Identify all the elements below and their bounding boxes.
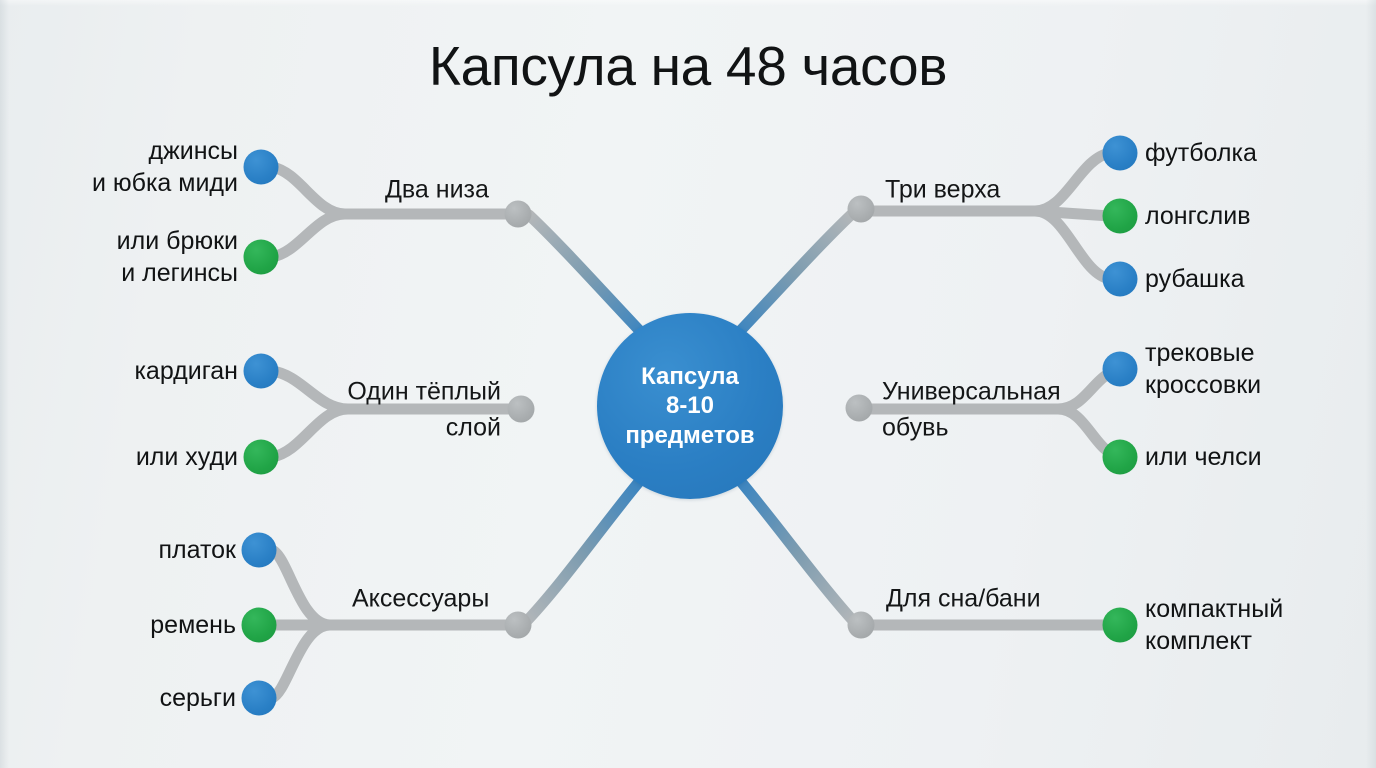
leaf-label-longsliv: лонгслив: [1145, 200, 1250, 232]
link-dva-niza-leaf-0: [272, 167, 345, 214]
leaf-dot-khudi[interactable]: [244, 440, 279, 475]
link-odin-teplyy-leaf-0: [272, 371, 348, 409]
branch-node-aksessuary[interactable]: [505, 612, 532, 639]
link-aksessuary-leaf-2: [272, 625, 330, 698]
leaf-label-remen: ремень: [150, 609, 236, 641]
leaf-label-chelsi: или челси: [1145, 441, 1262, 473]
central-node[interactable]: Капсула 8-10 предметов: [597, 313, 783, 499]
leaf-dot-kardigan[interactable]: [244, 354, 279, 389]
leaf-dot-bryuki[interactable]: [244, 240, 279, 275]
branch-node-tri-verha[interactable]: [848, 196, 875, 223]
leaf-label-rubashka: рубашка: [1145, 263, 1245, 295]
leaf-label-kompaktnyy-komplekt: компактный комплект: [1145, 593, 1283, 657]
link-dva-niza-leaf-1: [272, 214, 345, 257]
leaf-dot-sergi[interactable]: [242, 681, 277, 716]
link-tri-verha-leaf-2: [1035, 211, 1110, 279]
leaf-dot-rubashka[interactable]: [1103, 262, 1138, 297]
branch-node-universalnaya-obuv[interactable]: [846, 395, 873, 422]
spoke-aksessuary: [524, 465, 653, 624]
mindmap-canvas: Капсула на 48 часов: [0, 0, 1376, 768]
branch-label-dlya-sna-bani: Для сна/бани: [886, 581, 1041, 617]
branch-label-odin-teplyy-sloy: Один тёплый слой: [339, 375, 501, 446]
branch-label-tri-verha: Три верха: [885, 172, 1000, 208]
link-odin-teplyy-leaf-1: [272, 409, 348, 457]
link-tri-verha-leaf-0: [1035, 153, 1110, 211]
leaf-dot-remen[interactable]: [242, 608, 277, 643]
branch-node-dlya-sna-bani[interactable]: [848, 612, 875, 639]
spoke-dlya-sna-bani: [727, 465, 856, 624]
leaf-label-sergi: серьги: [160, 682, 236, 714]
branch-label-universalnaya-obuv: Универсальная обувь: [882, 375, 1082, 446]
leaf-dot-chelsi[interactable]: [1103, 440, 1138, 475]
central-node-label: Капсула 8-10 предметов: [625, 362, 754, 450]
leaf-dot-trekovye-krossovki[interactable]: [1103, 352, 1138, 387]
leaf-label-trekovye-krossovki: трековые кроссовки: [1145, 337, 1261, 401]
leaf-dot-futbolka[interactable]: [1103, 136, 1138, 171]
leaf-dot-platok[interactable]: [242, 533, 277, 568]
branch-label-aksessuary: Аксессуары: [352, 581, 489, 617]
branch-node-odin-teplyy-sloy[interactable]: [508, 396, 535, 423]
leaf-label-futbolka: футболка: [1145, 137, 1257, 169]
leaf-label-khudi: или худи: [136, 441, 238, 473]
branch-node-dva-niza[interactable]: [505, 201, 532, 228]
branch-label-dva-niza: Два низа: [385, 172, 489, 208]
leaf-label-dzhinsy: джинсы и юбка миди: [92, 135, 238, 199]
leaf-label-kardigan: кардиган: [134, 355, 238, 387]
leaf-label-bryuki: или брюки и легинсы: [117, 225, 238, 289]
leaf-label-platok: платок: [159, 534, 237, 566]
leaf-dot-dzhinsy[interactable]: [244, 150, 279, 185]
leaf-dot-kompaktnyy-komplekt[interactable]: [1103, 608, 1138, 643]
link-aksessuary-leaf-0: [272, 550, 330, 625]
leaf-dot-longsliv[interactable]: [1103, 199, 1138, 234]
